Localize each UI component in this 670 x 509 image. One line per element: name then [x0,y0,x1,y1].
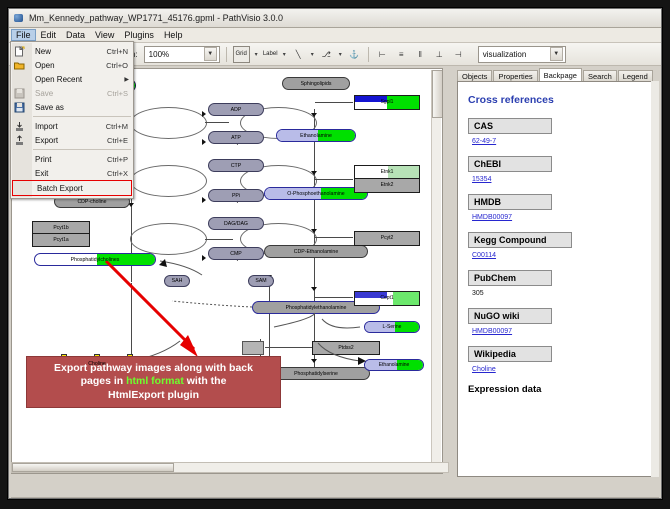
menu-view[interactable]: View [90,29,119,41]
menu-item-exit[interactable]: Exit Ctrl+X [11,166,133,180]
backpage-content: Cross references CAS 62-49-7 ChEBI 15354… [457,81,655,477]
side-panel-scrollbar[interactable] [651,81,659,477]
xref-value-chebi[interactable]: 15354 [472,176,644,183]
xref-value-hmdb[interactable]: HMDB00097 [472,214,644,221]
line-tool-icon[interactable]: ╲ [291,47,306,62]
xref-header-nugo: NuGO wiki [468,308,552,324]
receptor-chevron-icon[interactable]: ▾ [338,51,343,58]
menu-item-export[interactable]: Export Ctrl+E [11,133,133,147]
submenu-chevron-right-icon: ▶ [124,76,133,83]
annotation-line2-a: pages in [81,375,127,387]
chevron-down-icon[interactable]: ▼ [204,47,217,61]
screenshot-frame: Mm_Kennedy_pathway_WP1771_45176.gpml - P… [0,0,670,509]
pathvisio-window: Mm_Kennedy_pathway_WP1771_45176.gpml - P… [8,8,662,499]
annotation-line2-b: with the [184,375,227,387]
align-right-icon[interactable]: ⊣ [451,47,466,62]
menu-separator [33,116,131,117]
label-chevron-icon[interactable]: ▾ [282,51,287,58]
menu-help[interactable]: Help [159,29,188,41]
status-bar-inner: | Gene database: ...m_Derby_20120602.bri… [11,497,659,499]
toolbar-separator [226,47,227,62]
grid-button[interactable]: Grid [233,46,250,63]
menu-item-batch-export[interactable]: Batch Export [12,180,132,196]
menu-item-open-recent[interactable]: Open Recent ▶ [11,72,133,86]
export-icon [14,135,25,146]
align-columns-icon[interactable]: ‖ [413,47,428,62]
align-left-icon[interactable]: ⊢ [375,47,390,62]
menu-data[interactable]: Data [61,29,90,41]
anchor-tool-icon[interactable]: ⚓ [347,47,362,62]
save-icon [14,88,25,99]
xref-header-wikipedia: Wikipedia [468,346,552,362]
zoom-combo[interactable]: 100% ▼ [144,46,220,63]
new-document-icon [14,46,25,57]
canvas-vertical-scrollbar[interactable] [431,70,441,472]
menu-item-new[interactable]: New Ctrl+N [11,44,133,58]
menu-item-open[interactable]: Open Ctrl+O [11,58,133,72]
canvas-horizontal-scrollbar[interactable] [11,462,449,473]
xref-value-nugo[interactable]: HMDB00097 [472,328,644,335]
visualization-combo[interactable]: visualization ▼ [478,46,566,63]
visualization-value: visualization [483,50,527,59]
align-bottom-icon[interactable]: ⊥ [432,47,447,62]
line-chevron-icon[interactable]: ▾ [310,51,315,58]
tab-backpage[interactable]: Backpage [539,68,582,82]
menu-item-print[interactable]: Print Ctrl+P [11,152,133,166]
menu-item-save: Save Ctrl+S [11,86,133,100]
title-bar: Mm_Kennedy_pathway_WP1771_45176.gpml - P… [9,9,661,28]
annotation-highlight: html format [126,375,184,387]
label-button[interactable]: Label [263,47,278,62]
xref-value-pubchem: 305 [472,290,644,297]
annotation-callout: Export pathway images along with back pa… [26,356,281,408]
menu-file[interactable]: File [11,29,36,41]
scrollbar-thumb-horizontal[interactable] [12,463,174,472]
annotation-line1: Export pathway images along with back [54,362,253,374]
xref-value-kegg[interactable]: C00114 [472,252,644,259]
toolbar-separator-2 [368,47,369,62]
import-icon [14,121,25,132]
receptor-tool-icon[interactable]: ⎇ [319,47,334,62]
zoom-value: 100% [149,50,169,59]
window-title: Mm_Kennedy_pathway_WP1771_45176.gpml - P… [29,13,283,23]
annotation-line3: HtmlExport plugin [108,389,199,401]
menu-edit[interactable]: Edit [36,29,62,41]
align-center-icon[interactable]: ≡ [394,47,409,62]
side-panel: Objects Properties Backpage Search Legen… [449,66,659,495]
menu-separator-2 [33,149,131,150]
menu-plugins[interactable]: Plugins [119,29,159,41]
menu-item-save-as[interactable]: Save as [11,100,133,114]
xref-header-cas: CAS [468,118,552,134]
cross-references-heading: Cross references [468,94,644,106]
visualization-chevron-down-icon[interactable]: ▼ [550,47,563,61]
open-folder-icon [14,60,25,71]
status-bar: | Gene database: ...m_Derby_20120602.bri… [9,495,661,499]
expression-data-heading: Expression data [468,384,644,395]
file-dropdown-menu: New Ctrl+N Open Ctrl+O Open Recent ▶ Sav… [10,41,134,199]
xref-header-kegg: Kegg Compound [468,232,572,248]
xref-value-wikipedia[interactable]: Choline [472,366,644,373]
xref-header-hmdb: HMDB [468,194,552,210]
side-panel-tabs: Objects Properties Backpage Search Legen… [449,68,657,82]
save-as-icon [14,102,25,113]
scrollbar-thumb[interactable] [432,70,443,118]
grid-chevron-icon[interactable]: ▾ [254,51,259,58]
xref-value-cas[interactable]: 62-49-7 [472,138,644,145]
xref-header-pubchem: PubChem [468,270,552,286]
menu-item-import[interactable]: Import Ctrl+M [11,119,133,133]
pathvisio-icon [13,12,25,24]
xref-header-chebi: ChEBI [468,156,552,172]
